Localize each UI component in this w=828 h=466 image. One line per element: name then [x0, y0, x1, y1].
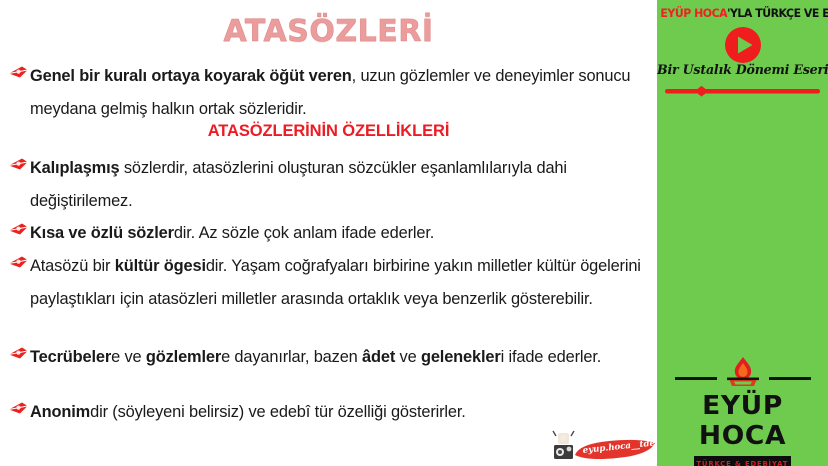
list-item-text-kisa-ozlu: Kısa ve özlü sözlerdir. Az sözle çok anl…: [30, 217, 653, 250]
page-title: ATASÖZLERİ: [0, 14, 657, 49]
red-arrow-bullet-icon: [8, 345, 30, 365]
list-item-definition: Genel bir kuralı ortaya koyarak öğüt ver…: [8, 60, 653, 126]
list-item-kaliplasmis: Kalıplaşmış sözlerdir, atasözlerini oluş…: [8, 152, 653, 218]
list-item-text-kultur-ogesi: Atasözü bir kültür ögesidir. Yaşam coğra…: [30, 250, 653, 316]
list-item-text-anonim: Anonimdir (söyleyeni belirsiz) ve edebî …: [30, 396, 653, 429]
red-arrow-bullet-icon: [8, 254, 30, 274]
list-item-text-tecrube-gozlem: Tecrübelere ve gözlemlere dayanırlar, ba…: [30, 341, 653, 374]
slide-canvas: ATASÖZLERİ ATASÖZLERİNİN ÖZELLİKLERİ Gen…: [0, 0, 828, 466]
play-button-icon[interactable]: [724, 26, 762, 64]
list-item-text-kaliplasmis: Kalıplaşmış sözlerdir, atasözlerini oluş…: [30, 152, 653, 218]
promo-title: EYÜP HOCA'YLA TÜRKÇE VE EDEBİYAT: [660, 6, 824, 20]
promo-subtitle: Bir Ustalık Dönemi Eseri: [657, 62, 828, 77]
promo-sidebar: EYÜP HOCA'YLA TÜRKÇE VE EDEBİYAT Bir Ust…: [657, 0, 828, 466]
slide-content-area: ATASÖZLERİ ATASÖZLERİNİN ÖZELLİKLERİ Gen…: [0, 0, 657, 466]
logo-tagline: TÜRKÇE & EDEBİYAT: [697, 459, 789, 466]
list-item-kultur-ogesi: Atasözü bir kültür ögesidir. Yaşam coğra…: [8, 250, 653, 316]
brand-logo: EYÜP HOCA TÜRKÇE & EDEBİYAT: [657, 355, 828, 455]
promo-brand-label: EYÜP HOCA: [660, 6, 727, 20]
watermark: eyup.hoca__tde: [551, 428, 659, 466]
red-arrow-bullet-icon: [8, 64, 30, 84]
list-item-anonim: Anonimdir (söyleyeni belirsiz) ve edebî …: [8, 396, 653, 429]
list-item-text-definition: Genel bir kuralı ortaya koyarak öğüt ver…: [30, 60, 653, 126]
logo-name: EYÜP HOCA: [657, 391, 828, 451]
camera-mascot-icon: [553, 431, 574, 459]
logo-tagline-bar: TÜRKÇE & EDEBİYAT: [694, 456, 791, 466]
red-arrow-bullet-icon: [8, 156, 30, 176]
promo-title-rest: 'YLA TÜRKÇE VE EDEBİYAT: [727, 6, 828, 20]
list-item-kisa-ozlu: Kısa ve özlü sözlerdir. Az sözle çok anl…: [8, 217, 653, 250]
red-arrow-bullet-icon: [8, 221, 30, 241]
campfire-flame-icon: [657, 355, 828, 391]
red-arrow-bullet-icon: [8, 400, 30, 420]
progress-slider[interactable]: [665, 84, 820, 98]
list-item-tecrube-gozlem: Tecrübelere ve gözlemlere dayanırlar, ba…: [8, 341, 653, 374]
